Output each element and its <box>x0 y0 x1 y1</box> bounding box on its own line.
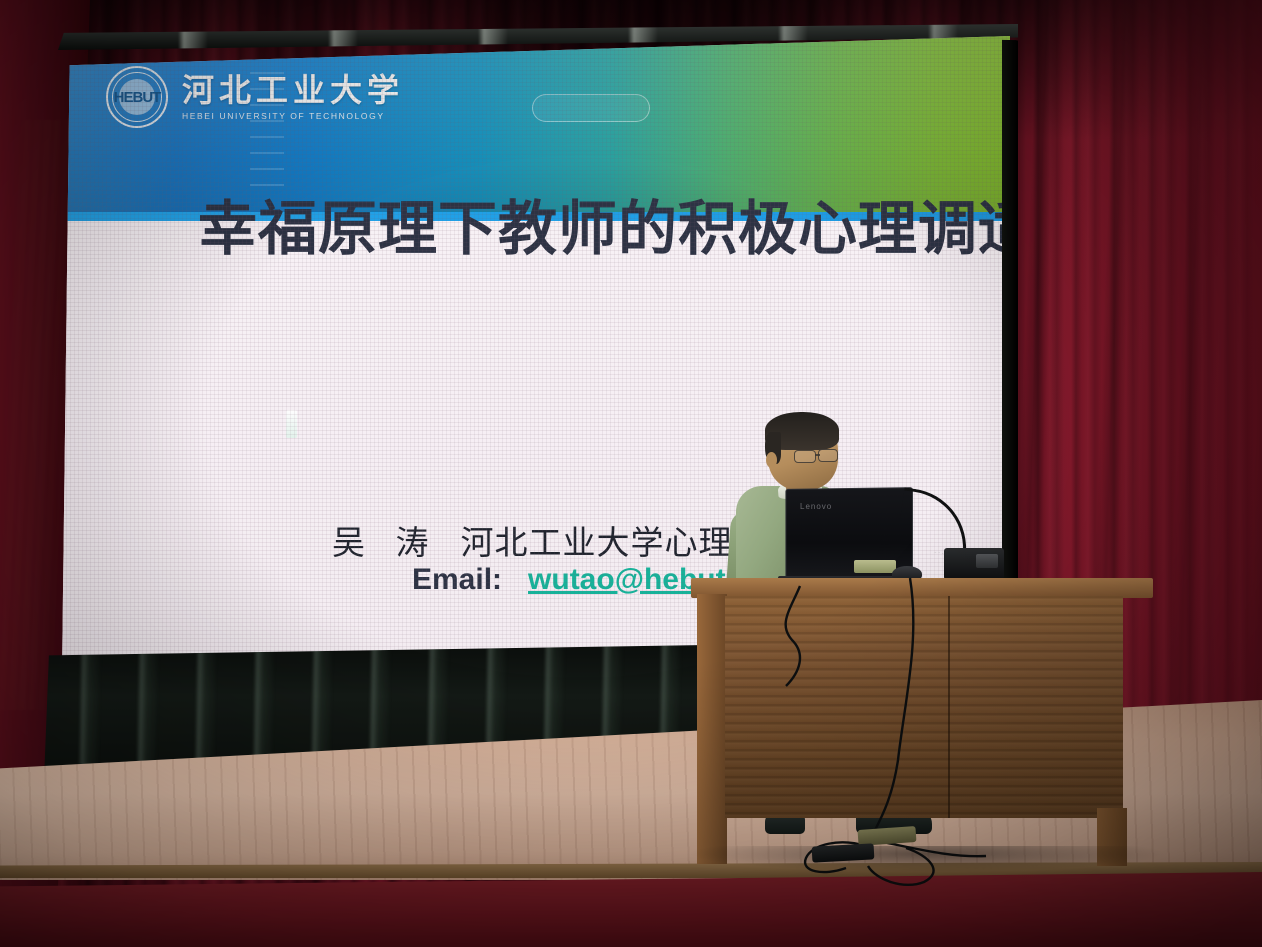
lenovo-laptop[interactable]: Lenovo <box>784 488 912 580</box>
eyeglasses-bridge <box>815 454 820 456</box>
crest-glyph: HEBUT <box>106 66 168 128</box>
presenter-name: 吴 涛 <box>332 523 439 562</box>
header-pill-shape <box>532 94 650 122</box>
laptop-brand-logo: Lenovo <box>800 502 832 511</box>
eyeglasses-left-lens <box>794 450 816 463</box>
podium-panel-seam <box>948 596 950 818</box>
eyeglasses-right-lens <box>818 449 838 462</box>
gooseneck-microphone[interactable] <box>944 548 1004 580</box>
slide-title: 幸福原理下教师的积极心理调适 <box>198 181 998 266</box>
laptop-sticker <box>854 560 896 573</box>
podium-wood-grain <box>725 596 1123 818</box>
microphone-control-panel[interactable] <box>976 554 998 568</box>
university-name-cn: 河北工业大学 <box>182 74 404 106</box>
presenter-ear <box>766 452 777 468</box>
floor-adapter-box <box>812 843 875 862</box>
podium-front-panel <box>725 596 1123 818</box>
slide-artifact-mark <box>286 410 297 438</box>
podium-floor-shadow <box>687 846 1167 872</box>
university-name-en: HEBEI UNIVERSITY OF TECHNOLOGY <box>182 112 404 121</box>
university-wordmark: 河北工业大学 HEBEI UNIVERSITY OF TECHNOLOGY <box>182 74 404 121</box>
podium-desk <box>697 578 1147 866</box>
podium-left-panel <box>697 594 727 864</box>
lecture-stage-photo: HEBUT 河北工业大学 HEBEI UNIVERSITY OF TECHNOL… <box>0 0 1262 947</box>
university-crest-icon: HEBUT <box>106 66 168 128</box>
podium-top-surface <box>691 578 1153 598</box>
email-label: Email: <box>412 563 502 596</box>
university-brand-lockup: HEBUT 河北工业大学 HEBEI UNIVERSITY OF TECHNOL… <box>106 66 404 128</box>
